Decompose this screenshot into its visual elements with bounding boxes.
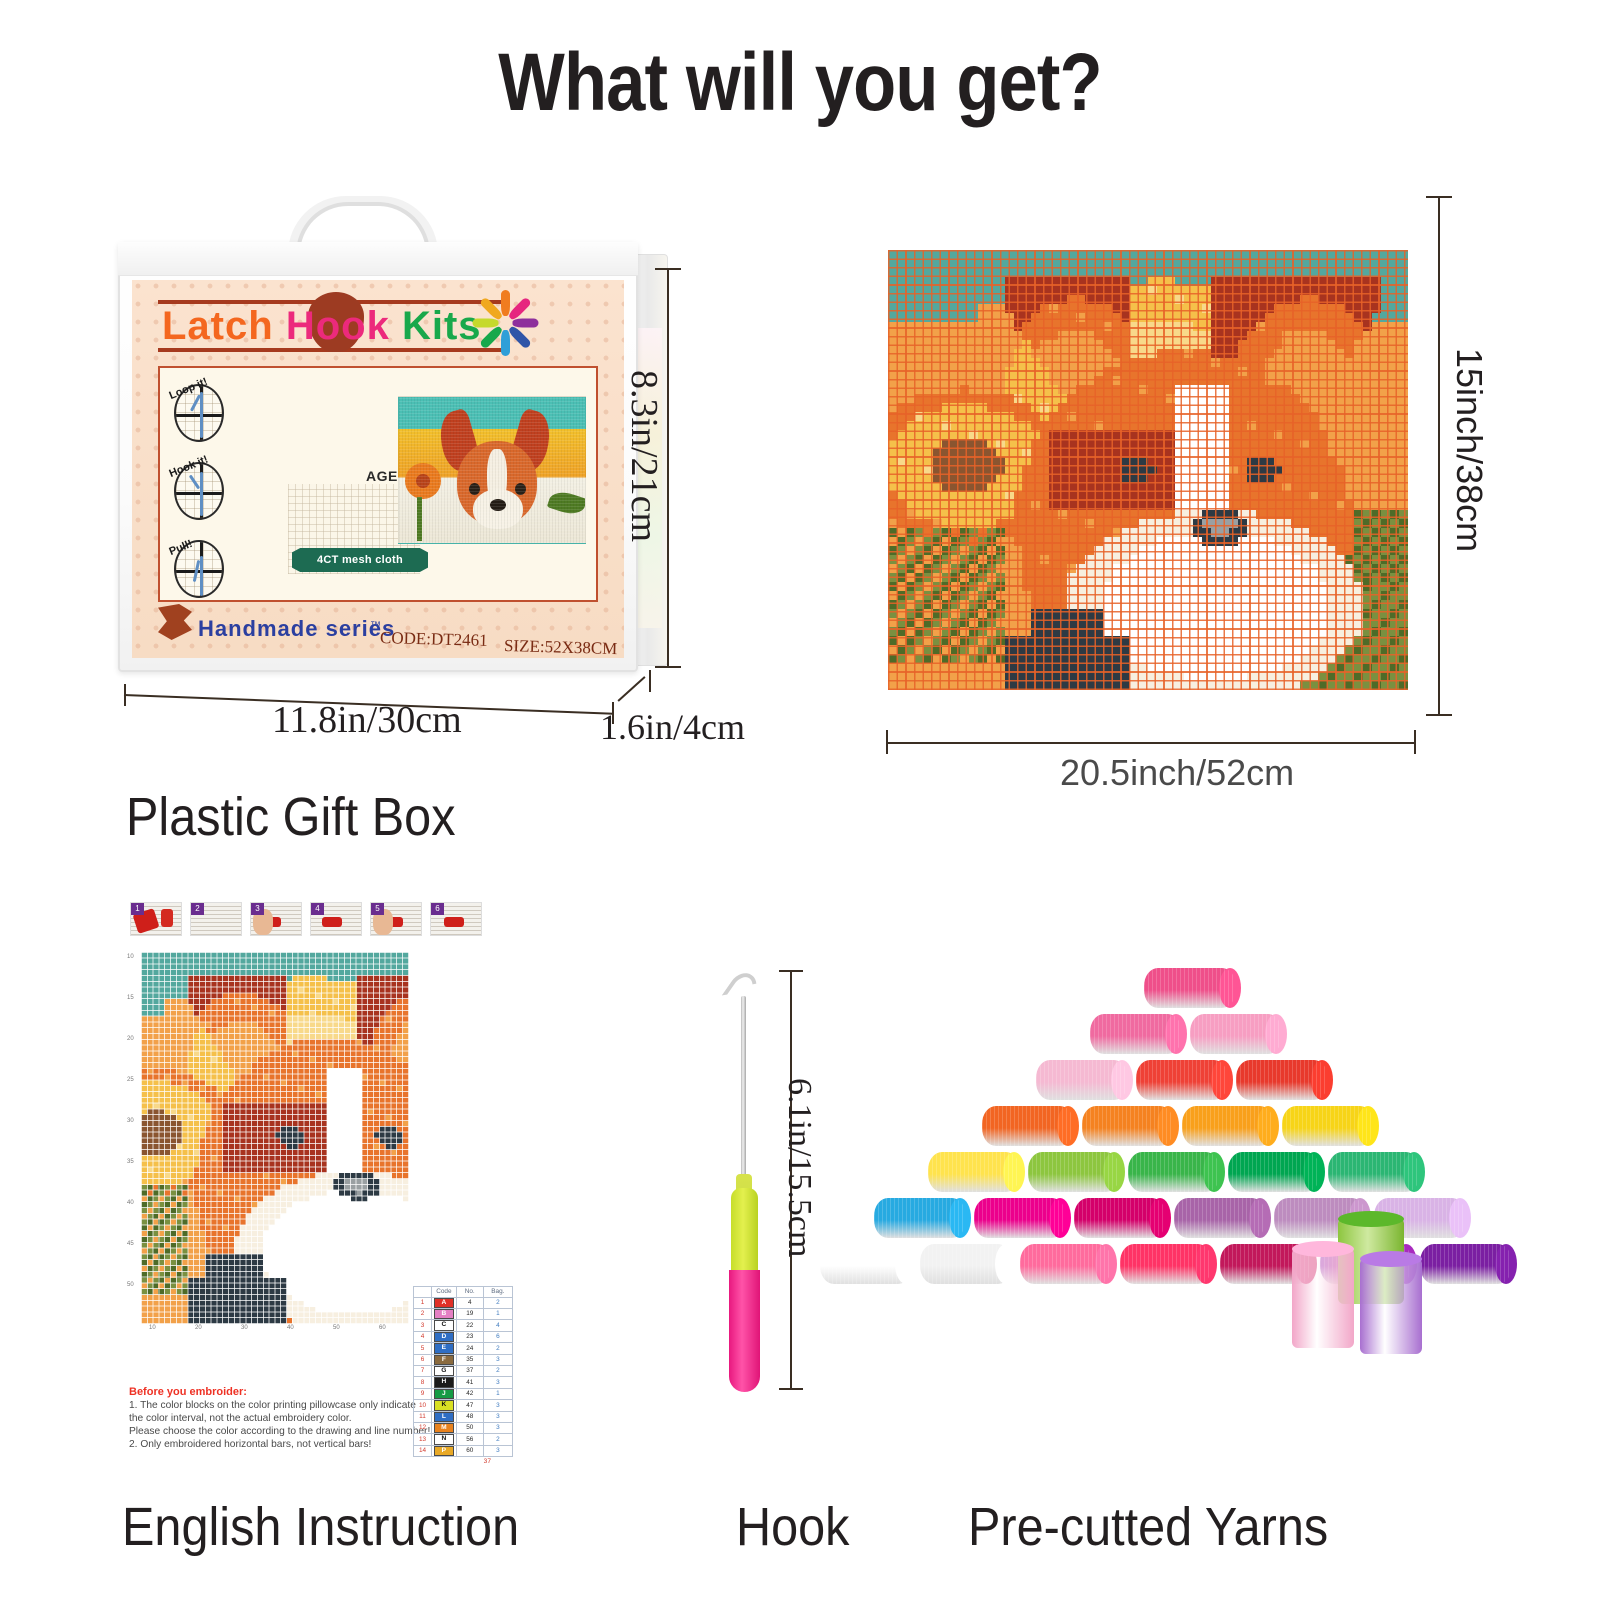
canvas-pixel-cell xyxy=(906,627,915,636)
canvas-pixel-cell xyxy=(1345,627,1354,636)
canvas-pixel-cell xyxy=(1238,582,1247,591)
canvas-pixel-cell xyxy=(1014,609,1023,618)
canvas-pixel-cell xyxy=(1193,259,1202,268)
canvas-pixel-cell xyxy=(1336,259,1345,268)
canvas-pixel-cell xyxy=(951,555,960,564)
canvas-pixel-cell xyxy=(1399,349,1408,358)
canvas-pixel-cell xyxy=(942,663,951,672)
canvas-pixel-cell xyxy=(978,349,987,358)
canvas-pixel-cell xyxy=(1318,448,1327,457)
canvas-pixel-cell xyxy=(1139,645,1148,654)
canvas-pixel-cell xyxy=(1193,510,1202,519)
canvas-pixel-cell xyxy=(1354,403,1363,412)
canvas-pixel-cell xyxy=(960,573,969,582)
canvas-pixel-cell xyxy=(1399,376,1408,385)
canvas-pixel-cell xyxy=(1193,331,1202,340)
canvas-pixel-cell xyxy=(897,331,906,340)
canvas-pixel-cell xyxy=(924,483,933,492)
canvas-pixel-cell xyxy=(1067,501,1076,510)
canvas-pixel-cell xyxy=(1363,582,1372,591)
canvas-pixel-cell xyxy=(1265,412,1274,421)
canvas-pixel-cell xyxy=(1318,250,1327,259)
canvas-pixel-cell xyxy=(1211,331,1220,340)
canvas-pixel-cell xyxy=(987,474,996,483)
canvas-pixel-cell xyxy=(1229,537,1238,546)
canvas-pixel-cell xyxy=(1238,474,1247,483)
canvas-pixel-cell xyxy=(1229,555,1238,564)
canvas-pixel-cell xyxy=(1094,367,1103,376)
canvas-pixel-cell xyxy=(1399,439,1408,448)
canvas-pixel-cell xyxy=(1238,430,1247,439)
canvas-pixel-cell xyxy=(1345,510,1354,519)
canvas-pixel-cell xyxy=(1274,304,1283,313)
canvas-pixel-cell xyxy=(1014,564,1023,573)
canvas-pixel-cell xyxy=(906,510,915,519)
canvas-pixel-cell xyxy=(942,394,951,403)
canvas-pixel-cell xyxy=(1166,600,1175,609)
canvas-pixel-cell xyxy=(1327,295,1336,304)
canvas-pixel-cell xyxy=(1381,654,1390,663)
canvas-pixel-cell xyxy=(1121,286,1130,295)
canvas-pixel-cell xyxy=(1014,340,1023,349)
canvas-pixel-cell xyxy=(1265,573,1274,582)
canvas-pixel-cell xyxy=(1372,313,1381,322)
canvas-pixel-cell xyxy=(1067,582,1076,591)
canvas-pixel-cell xyxy=(1256,582,1265,591)
canvas-pixel-cell xyxy=(1336,457,1345,466)
canvas-pixel-cell xyxy=(1049,259,1058,268)
canvas-pixel-cell xyxy=(933,483,942,492)
canvas-pixel-cell xyxy=(1354,250,1363,259)
canvas-pixel-cell xyxy=(1291,546,1300,555)
canvas-pixel-cell xyxy=(1202,546,1211,555)
canvas-pixel-cell xyxy=(1130,555,1139,564)
canvas-pixel-cell xyxy=(996,555,1005,564)
canvas-pixel-cell xyxy=(1193,663,1202,672)
canvas-pixel-cell xyxy=(1282,681,1291,690)
canvas-pixel-cell xyxy=(1300,681,1309,690)
canvas-pixel-cell xyxy=(951,537,960,546)
canvas-pixel-cell xyxy=(951,483,960,492)
canvas-pixel-cell xyxy=(1265,582,1274,591)
canvas-pixel-cell xyxy=(1157,331,1166,340)
canvas-pixel-cell xyxy=(1148,663,1157,672)
canvas-pixel-cell xyxy=(1202,663,1211,672)
canvas-pixel-cell xyxy=(888,403,897,412)
canvas-pixel-cell xyxy=(1291,519,1300,528)
canvas-pixel-cell xyxy=(996,564,1005,573)
canvas-pixel-cell xyxy=(1166,286,1175,295)
canvas-pixel-cell xyxy=(1175,466,1184,475)
canvas-pixel-cell xyxy=(1067,259,1076,268)
canvas-pixel-cell xyxy=(1112,331,1121,340)
canvas-pixel-cell xyxy=(1166,385,1175,394)
canvas-pixel-cell xyxy=(1103,286,1112,295)
canvas-pixel-cell xyxy=(1220,259,1229,268)
canvas-pixel-cell xyxy=(897,385,906,394)
canvas-pixel-cell xyxy=(1291,376,1300,385)
instruction-step-thumbnails: 123456 xyxy=(130,898,485,940)
canvas-pixel-cell xyxy=(1130,385,1139,394)
canvas-pixel-cell xyxy=(1175,537,1184,546)
canvas-pixel-cell xyxy=(1256,645,1265,654)
canvas-pixel-cell xyxy=(1148,439,1157,448)
canvas-pixel-cell xyxy=(1265,295,1274,304)
canvas-pixel-cell xyxy=(1309,277,1318,286)
canvas-pixel-cell xyxy=(1300,349,1309,358)
canvas-pixel-cell xyxy=(1381,474,1390,483)
canvas-pixel-cell xyxy=(1220,403,1229,412)
canvas-pixel-cell xyxy=(1193,537,1202,546)
canvas-pixel-cell xyxy=(1067,403,1076,412)
canvas-pixel-cell xyxy=(1076,331,1085,340)
canvas-pixel-cell xyxy=(1040,385,1049,394)
canvas-pixel-cell xyxy=(951,636,960,645)
canvas-pixel-cell xyxy=(1148,591,1157,600)
canvas-pixel-cell xyxy=(1193,672,1202,681)
canvas-pixel-cell xyxy=(1076,492,1085,501)
canvas-pixel-cell xyxy=(942,286,951,295)
canvas-pixel-cell xyxy=(915,403,924,412)
canvas-pixel-cell xyxy=(1390,358,1399,367)
canvas-pixel-cell xyxy=(942,367,951,376)
canvas-pixel-cell xyxy=(924,474,933,483)
canvas-pixel-cell xyxy=(1318,358,1327,367)
canvas-pixel-cell xyxy=(1184,591,1193,600)
canvas-pixel-cell xyxy=(1094,582,1103,591)
canvas-pixel-cell xyxy=(1336,564,1345,573)
canvas-pixel-cell xyxy=(933,537,942,546)
canvas-pixel-cell xyxy=(1193,483,1202,492)
canvas-pixel-cell xyxy=(1112,277,1121,286)
canvas-pixel-cell xyxy=(951,394,960,403)
thumbnail-yarn xyxy=(161,909,173,927)
canvas-pixel-cell xyxy=(987,519,996,528)
canvas-pixel-cell xyxy=(1345,474,1354,483)
canvas-pixel-cell xyxy=(996,457,1005,466)
canvas-pixel-cell xyxy=(1067,412,1076,421)
canvas-pixel-cell xyxy=(1014,358,1023,367)
canvas-pixel-cell xyxy=(1076,385,1085,394)
canvas-pixel-cell xyxy=(1211,600,1220,609)
canvas-pixel-cell xyxy=(960,546,969,555)
canvas-pixel-cell xyxy=(1014,555,1023,564)
canvas-pixel-cell xyxy=(942,268,951,277)
canvas-pixel-cell xyxy=(924,259,933,268)
canvas-pixel-cell xyxy=(1381,259,1390,268)
canvas-pixel-cell xyxy=(1014,466,1023,475)
canvas-pixel-cell xyxy=(1058,466,1067,475)
canvas-pixel-cell xyxy=(996,277,1005,286)
canvas-pixel-cell xyxy=(1381,295,1390,304)
canvas-pixel-cell xyxy=(888,349,897,358)
canvas-pixel-cell xyxy=(1399,582,1408,591)
canvas-pixel-cell xyxy=(1058,600,1067,609)
canvas-pixel-cell xyxy=(1094,591,1103,600)
canvas-pixel-cell xyxy=(978,430,987,439)
canvas-pixel-cell xyxy=(1318,564,1327,573)
canvas-pixel-cell xyxy=(1005,519,1014,528)
canvas-pixel-cell xyxy=(897,448,906,457)
canvas-pixel-cell xyxy=(1121,609,1130,618)
canvas-pixel-cell xyxy=(1345,412,1354,421)
canvas-pixel-cell xyxy=(1022,474,1031,483)
canvas-pixel-cell xyxy=(1256,501,1265,510)
canvas-pixel-cell xyxy=(1220,582,1229,591)
canvas-pixel-cell xyxy=(924,573,933,582)
canvas-pixel-cell xyxy=(1336,403,1345,412)
canvas-pixel-cell xyxy=(1336,286,1345,295)
canvas-pixel-cell xyxy=(1354,645,1363,654)
canvas-pixel-cell xyxy=(1399,367,1408,376)
canvas-pixel-cell xyxy=(1300,582,1309,591)
canvas-pixel-cell xyxy=(1336,483,1345,492)
canvas-pixel-cell xyxy=(1336,591,1345,600)
canvas-pixel-cell xyxy=(1327,367,1336,376)
canvas-pixel-cell xyxy=(1148,672,1157,681)
canvas-pixel-cell xyxy=(933,555,942,564)
canvas-pixel-cell xyxy=(942,573,951,582)
canvas-pixel-cell xyxy=(1031,564,1040,573)
canvas-pixel-cell xyxy=(1256,672,1265,681)
canvas-pixel-cell xyxy=(888,483,897,492)
canvas-pixel-cell xyxy=(1157,555,1166,564)
canvas-pixel-cell xyxy=(1139,654,1148,663)
canvas-pixel-cell xyxy=(1049,510,1058,519)
canvas-pixel-cell xyxy=(1067,510,1076,519)
canvas-pixel-cell xyxy=(1130,340,1139,349)
canvas-pixel-cell xyxy=(1112,322,1121,331)
canvas-pixel-cell xyxy=(1345,609,1354,618)
canvas-pixel-cell xyxy=(1211,492,1220,501)
canvas-pixel-cell xyxy=(1381,645,1390,654)
canvas-pixel-cell xyxy=(987,403,996,412)
canvas-pixel-cell xyxy=(1363,313,1372,322)
canvas-pixel-cell xyxy=(1166,250,1175,259)
canvas-pixel-cell xyxy=(1381,564,1390,573)
canvas-pixel-cell xyxy=(1229,295,1238,304)
canvas-pixel-cell xyxy=(978,367,987,376)
canvas-pixel-cell xyxy=(1390,546,1399,555)
canvas-pixel-cell xyxy=(1049,322,1058,331)
canvas-pixel-cell xyxy=(1372,519,1381,528)
canvas-pixel-cell xyxy=(1345,537,1354,546)
canvas-pixel-cell xyxy=(1354,412,1363,421)
canvas-pixel-cell xyxy=(978,492,987,501)
canvas-pixel-cell xyxy=(1291,304,1300,313)
canvas-pixel-cell xyxy=(1336,394,1345,403)
canvas-pixel-cell xyxy=(915,618,924,627)
canvas-pixel-cell xyxy=(1336,277,1345,286)
canvas-pixel-cell xyxy=(1381,528,1390,537)
canvas-pixel-cell xyxy=(1211,591,1220,600)
canvas-pixel-cell xyxy=(1265,376,1274,385)
canvas-pixel-cell xyxy=(1318,609,1327,618)
canvas-pixel-cell xyxy=(1148,304,1157,313)
canvas-pixel-cell xyxy=(906,618,915,627)
canvas-pixel-cell xyxy=(1381,421,1390,430)
canvas-pixel-cell xyxy=(1229,403,1238,412)
canvas-pixel-cell xyxy=(1265,286,1274,295)
canvas-pixel-cell xyxy=(1076,483,1085,492)
canvas-pixel-cell xyxy=(1193,573,1202,582)
canvas-pixel-cell xyxy=(1336,367,1345,376)
canvas-pixel-cell xyxy=(1327,358,1336,367)
canvas-pixel-cell xyxy=(1220,510,1229,519)
canvas-pixel-cell xyxy=(1274,627,1283,636)
canvas-pixel-cell xyxy=(1256,403,1265,412)
canvas-pixel-cell xyxy=(1381,367,1390,376)
canvas-pixel-cell xyxy=(1238,519,1247,528)
canvas-pixel-cell xyxy=(1031,358,1040,367)
canvas-pixel-cell xyxy=(1121,331,1130,340)
canvas-pixel-cell xyxy=(897,349,906,358)
canvas-pixel-cell xyxy=(1139,448,1148,457)
canvas-pixel-cell xyxy=(1354,448,1363,457)
canvas-pixel-cell xyxy=(951,591,960,600)
canvas-pixel-cell xyxy=(1229,492,1238,501)
canvas-pixel-cell xyxy=(996,672,1005,681)
canvas-pixel-cell xyxy=(1085,358,1094,367)
canvas-pixel-cell xyxy=(888,394,897,403)
canvas-pixel-cell xyxy=(1354,636,1363,645)
canvas-pixel-cell xyxy=(1247,304,1256,313)
canvas-pixel-cell xyxy=(1157,645,1166,654)
instruction-thumbnail: 2 xyxy=(190,902,242,936)
canvas-height-dimension: 15inch/38cm xyxy=(1448,348,1490,552)
canvas-pixel-cell xyxy=(1094,519,1103,528)
canvas-pixel-cell xyxy=(951,259,960,268)
canvas-pixel-cell xyxy=(1309,457,1318,466)
canvas-pixel-cell xyxy=(987,600,996,609)
canvas-pixel-cell xyxy=(1014,367,1023,376)
canvas-pixel-cell xyxy=(1005,681,1014,690)
canvas-pixel-cell xyxy=(1229,573,1238,582)
canvas-pixel-cell xyxy=(1256,358,1265,367)
canvas-pixel-cell xyxy=(1121,385,1130,394)
canvas-pixel-cell xyxy=(1220,349,1229,358)
canvas-pixel-cell xyxy=(1139,600,1148,609)
canvas-pixel-cell xyxy=(1121,474,1130,483)
canvas-pixel-cell xyxy=(1220,313,1229,322)
canvas-pixel-cell xyxy=(1309,340,1318,349)
canvas-pixel-cell xyxy=(978,439,987,448)
canvas-pixel-cell xyxy=(924,564,933,573)
canvas-pixel-cell xyxy=(978,672,987,681)
canvas-pixel-cell xyxy=(1381,546,1390,555)
logo-blade xyxy=(507,325,532,350)
canvas-pixel-cell xyxy=(996,250,1005,259)
canvas-pixel-cell xyxy=(1336,582,1345,591)
canvas-pixel-cell xyxy=(1265,313,1274,322)
canvas-pixel-cell xyxy=(888,519,897,528)
canvas-pixel-cell xyxy=(1193,277,1202,286)
canvas-pixel-cell xyxy=(1211,286,1220,295)
canvas-pixel-cell xyxy=(1318,636,1327,645)
canvas-pixel-cell xyxy=(1031,645,1040,654)
canvas-pixel-cell xyxy=(933,573,942,582)
canvas-pixel-cell xyxy=(1363,483,1372,492)
canvas-pixel-cell xyxy=(888,645,897,654)
canvas-pixel-cell xyxy=(1157,528,1166,537)
canvas-pixel-cell xyxy=(1049,546,1058,555)
canvas-pixel-cell xyxy=(1372,537,1381,546)
canvas-pixel-cell xyxy=(1130,573,1139,582)
canvas-pixel-cell xyxy=(1085,528,1094,537)
canvas-pixel-cell xyxy=(1300,385,1309,394)
canvas-pixel-cell xyxy=(1220,600,1229,609)
canvas-pixel-cell xyxy=(1049,403,1058,412)
canvas-pixel-cell xyxy=(1085,340,1094,349)
canvas-pixel-cell xyxy=(1336,412,1345,421)
canvas-pixel-cell xyxy=(1049,537,1058,546)
canvas-pixel-cell xyxy=(1121,537,1130,546)
canvas-pixel-cell xyxy=(1184,286,1193,295)
canvas-pixel-cell xyxy=(1121,582,1130,591)
canvas-pixel-cell xyxy=(1094,331,1103,340)
canvas-pixel-cell xyxy=(1363,636,1372,645)
canvas-pixel-cell xyxy=(969,268,978,277)
canvas-pixel-cell xyxy=(1121,367,1130,376)
canvas-pixel-cell xyxy=(1130,286,1139,295)
canvas-pixel-cell xyxy=(1381,681,1390,690)
canvas-pixel-cell xyxy=(1005,636,1014,645)
canvas-pixel-cell xyxy=(897,555,906,564)
canvas-pixel-cell xyxy=(1175,555,1184,564)
canvas-pixel-cell xyxy=(1103,474,1112,483)
canvas-pixel-cell xyxy=(1031,636,1040,645)
canvas-pixel-cell xyxy=(1256,322,1265,331)
canvas-pixel-cell xyxy=(1103,322,1112,331)
canvas-pixel-cell xyxy=(1345,421,1354,430)
canvas-pixel-cell xyxy=(1256,250,1265,259)
canvas-pixel-cell xyxy=(1112,430,1121,439)
canvas-pixel-cell xyxy=(1157,277,1166,286)
canvas-pixel-cell xyxy=(1256,510,1265,519)
canvas-pixel-cell xyxy=(1121,358,1130,367)
canvas-pixel-cell xyxy=(1309,313,1318,322)
canvas-pixel-cell xyxy=(996,304,1005,313)
canvas-pixel-cell xyxy=(1175,331,1184,340)
canvas-pixel-cell xyxy=(1094,573,1103,582)
canvas-pixel-cell xyxy=(969,412,978,421)
canvas-pixel-cell xyxy=(1399,672,1408,681)
canvas-pixel-cell xyxy=(1049,555,1058,564)
canvas-pixel-cell xyxy=(1318,394,1327,403)
canvas-pixel-cell xyxy=(1130,439,1139,448)
canvas-pixel-cell xyxy=(1282,313,1291,322)
canvas-pixel-cell xyxy=(951,510,960,519)
canvas-pixel-cell xyxy=(1184,250,1193,259)
canvas-pixel-cell xyxy=(1247,501,1256,510)
canvas-pixel-cell xyxy=(1399,564,1408,573)
canvas-pixel-cell xyxy=(888,492,897,501)
canvas-pixel-cell xyxy=(1049,268,1058,277)
canvas-pixel-cell xyxy=(897,591,906,600)
canvas-pixel-cell xyxy=(1372,474,1381,483)
canvas-pixel-cell xyxy=(987,555,996,564)
canvas-pixel-cell xyxy=(1291,627,1300,636)
canvas-pixel-cell xyxy=(978,645,987,654)
canvas-pixel-cell xyxy=(1247,358,1256,367)
canvas-pixel-cell xyxy=(1381,663,1390,672)
canvas-pixel-cell xyxy=(1184,636,1193,645)
canvas-pixel-cell xyxy=(1327,313,1336,322)
canvas-pixel-cell xyxy=(1300,663,1309,672)
canvas-pixel-cell xyxy=(1076,519,1085,528)
canvas-pixel-cell xyxy=(1282,510,1291,519)
canvas-pixel-cell xyxy=(1184,385,1193,394)
